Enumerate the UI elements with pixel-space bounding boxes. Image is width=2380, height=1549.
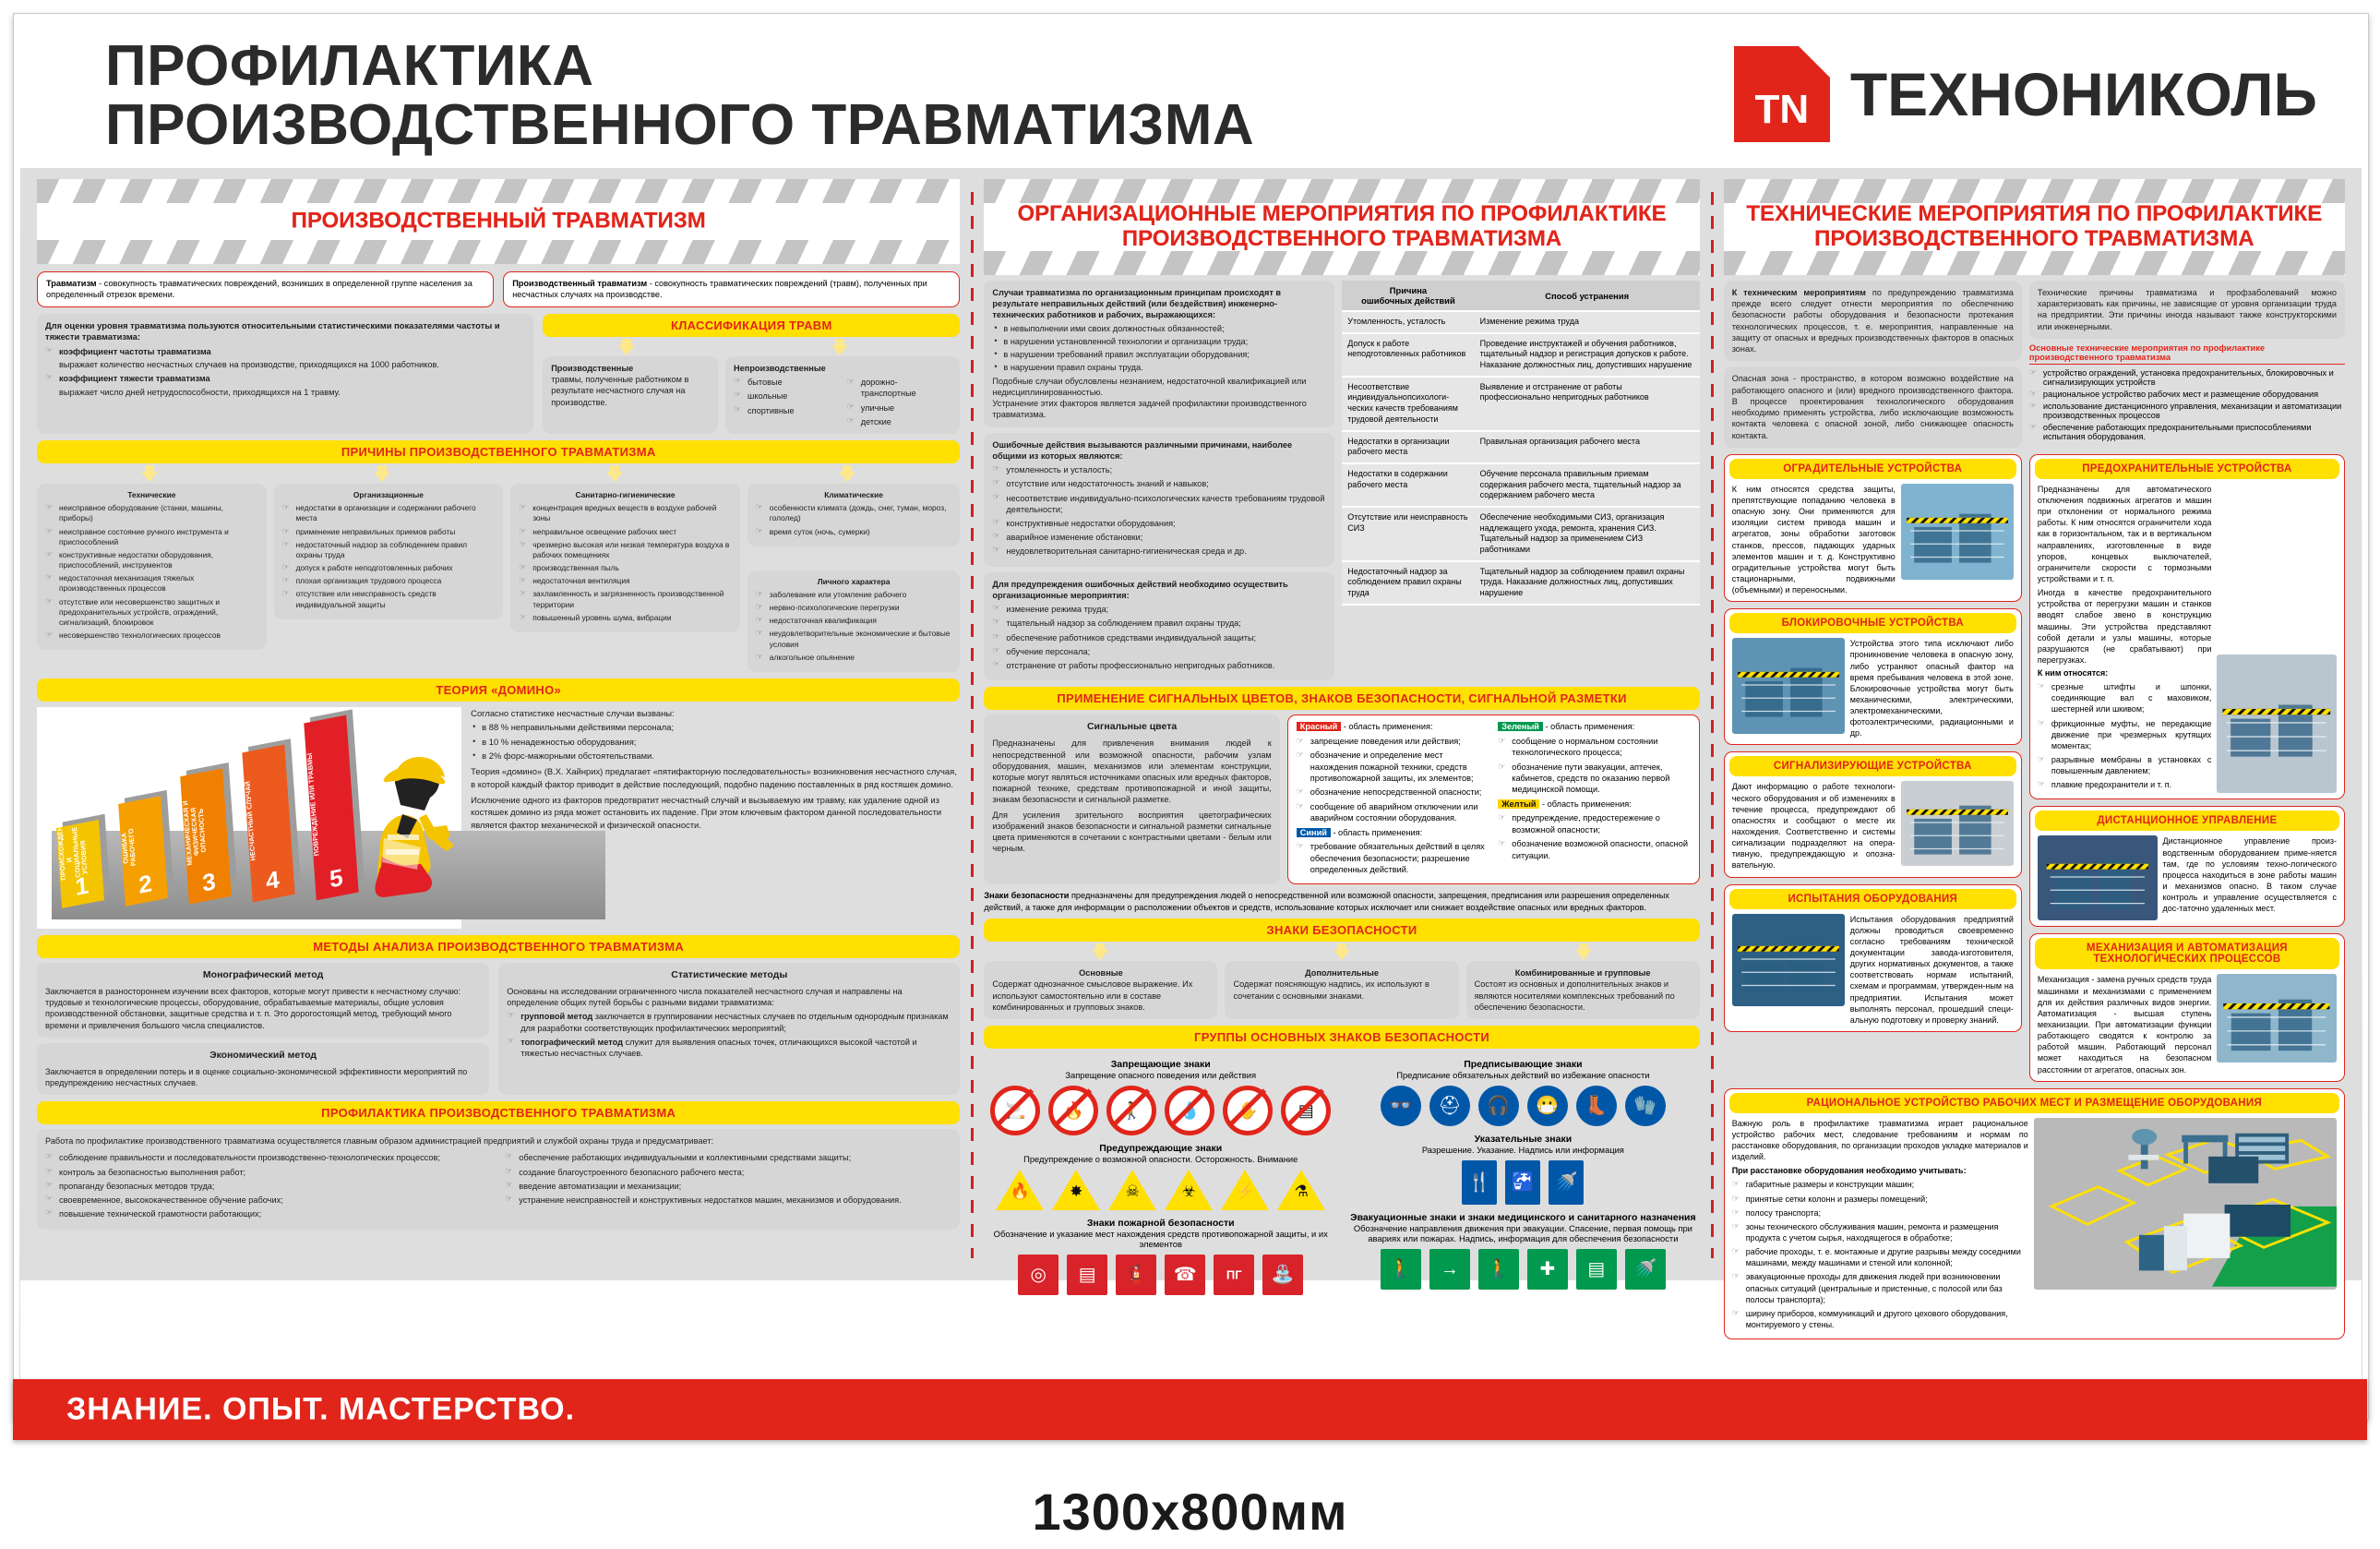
methods-title: МЕТОДЫ АНАЛИЗА ПРОИЗВОДСТВЕННОГО ТРАВМАТ… [37,935,960,958]
nonproduction-item: уличные [847,402,952,414]
prevention-item: обеспечение работающих индивидуальными и… [505,1152,951,1163]
cause-item: применение неправильных приемов работы [282,527,496,537]
table-cell: Выявление и отстранение от работы профес… [1475,377,1700,431]
workplace-item: габаритные размеры и конструкции машин; [1732,1179,2028,1190]
stat-indicators-title: Для оценки уровня травматизма пользуются… [45,320,525,343]
card-illustration [1901,781,2014,866]
table-cell: Недостатки в содержании рабочего места [1342,463,1474,507]
warning-sign-icon: ☠ [1108,1170,1156,1210]
info-sign-icon: 🚰 [1505,1160,1540,1205]
card-text: Основаны на исследовании ограниченного ч… [507,986,951,1008]
technical-card: ДИСТАНЦИОННОЕ УПРАВЛЕНИЕДистанционное уп… [2029,806,2345,927]
signs-definition: Знаки безопасности предназначены для пре… [984,890,1699,913]
color-suffix: - область применения: [1539,799,1631,809]
sign-group-subtitle: Обозначение и указание мест нахождения с… [984,1229,1337,1251]
sign-glyph: 🍴 [1462,1173,1497,1192]
sign-row: 🚬🔥🚶💧✋▤ [984,1086,1337,1135]
table-cell: Обеспечение необходимыми СИЗ, организаци… [1475,507,1700,561]
causes-cards: Техническиенеисправное оборудование (ста… [37,484,960,672]
poster-board: ПРОФИЛАКТИКА ПРОИЗВОДСТВЕННОГО ТРАВМАТИЗ… [13,13,2369,1420]
poster-board-inner: ПРОФИЛАКТИКА ПРОИЗВОДСТВЕННОГО ТРАВМАТИЗ… [20,20,2362,1412]
workplace-title: РАЦИОНАЛЬНОЕ УСТРОЙСТВО РАБОЧИХ МЕСТ И Р… [1729,1093,2339,1113]
sign-glyph: 😷 [1527,1097,1568,1115]
workplace-layout-illustration [2034,1118,2337,1290]
prevention-item: соблюдение правильности и последовательн… [45,1152,492,1163]
measure-item: изменение режима труда; [992,604,1326,615]
sign-glyph: ✋ [1227,1102,1268,1119]
warning-sign-icon: ✸ [1052,1170,1100,1210]
card-text: К ним относятся средства защиты, препятс… [1732,484,1896,595]
col2-top-row: Случаи травматизма по организационным пр… [984,281,1699,680]
intro-list: в невыполнении ими своих должностных обя… [992,323,1326,374]
domino-tile-3: МЕХАНИЧЕСКАЯ И ФИЗИЧЕСКАЯ ОПАСНОСТЬ3 [180,768,232,904]
stat-item: коэффициент частоты травматизмавыражает … [45,346,525,370]
intro-item: в нарушении установленной технологии и о… [992,336,1326,347]
poster-root: ПРОФИЛАКТИКА ПРОИЗВОДСТВЕННОГО ТРАВМАТИЗ… [0,0,2380,1549]
domino-tile-2: ОШИБКА РАБОЧЕГО2 [118,796,168,907]
domino-stats-list: в 88 % неправильными действиями персонал… [471,721,960,762]
sign-row: ◎▤🧯☎ПГ⛲ [984,1255,1337,1295]
measures-box: Для предупреждения ошибочных действий не… [984,572,1334,681]
domino-stat-item: в 2% форс-мажорными обстоятельствами. [471,750,960,762]
warning-sign-icon: ⚡ [1221,1170,1269,1210]
cause-card-4: Климатическиеособенности климата (дождь,… [747,484,961,546]
sign-glyph: ▤ [1576,1260,1617,1279]
sign-glyph: → [1429,1260,1470,1279]
card-illustration [2217,654,2337,793]
intro-item: в нарушении правил охраны труда. [992,362,1326,373]
color-usage-item: сообщение о нормальном состоянии техноло… [1498,736,1690,759]
info-sign-icon: 🚿 [1549,1160,1584,1205]
cause-item: алкогольное опьянение [756,653,952,663]
card-text: Дают информацию о работе технологи-ческо… [1732,781,1896,871]
color-usage-item: требование обязательных действий в целях… [1297,841,1489,875]
workplace-item: принятые сетки колонн и размеры помещени… [1732,1194,2028,1205]
cause-card-3: Санитарно-гигиеническиеконцентрация вред… [510,484,740,632]
card-body: Дистанционное управление произ-водственн… [2030,835,2344,920]
cause-item: чрезмерно высокая или низкая температура… [519,540,732,560]
mand-sign-icon: 👢 [1576,1086,1617,1126]
cause-item: недостаточная вентиляция [519,576,732,586]
table-cell: Недостаточный надзор за соблюдением прав… [1342,561,1474,605]
card-title: Экономический метод [45,1050,481,1063]
sign-types-row: ОсновныеСодержат однозначное смысловое в… [984,961,1699,1019]
card-title: ДИСТАНЦИОННОЕ УПРАВЛЕНИЕ [2035,811,2339,831]
cause-item: допуск к работе неподготовленных рабочих [282,563,496,573]
errors-list: утомленность и усталость;отсутствие или … [992,464,1326,558]
mand-sign-icon: 🎧 [1478,1086,1519,1126]
column-production-injuries: ПРОИЗВОДСТВЕННЫЙ ТРАВМАТИЗМ Травматизм -… [37,179,965,1271]
table-header: Способ устранения [1475,281,1700,311]
sign-type-card: ДополнительныеСодержат поясняющую надпис… [1225,961,1458,1019]
domino-tile-1: ПРОИСХОЖДЕНИЕ И СОЦИАЛЬНЫЕ УСЛОВИЯ1 [56,820,104,908]
mand-sign-icon: 😷 [1527,1086,1568,1126]
technical-card: СИГНАЛИЗИРУЮЩИЕ УСТРОЙСТВАДают информаци… [1724,751,2022,877]
technical-card: ПРЕДОХРАНИТЕЛЬНЫЕ УСТРОЙСТВАПредназначен… [2029,454,2345,800]
fire-sign-icon: ПГ [1214,1255,1254,1295]
table-row: Несоответствие индивидуальнопсихологи-че… [1342,377,1699,431]
column-divider-1 [965,179,978,1271]
poster-dimensions: 1300х800мм [0,1482,2380,1542]
technical-cards-grid: ОГРАДИТЕЛЬНЫЕ УСТРОЙСТВАК ним относятся … [1724,454,2345,1082]
sign-row: 🍴🚰🚿 [1346,1160,1700,1205]
sign-glyph: ◎ [1018,1266,1058,1284]
table-cell: Несоответствие индивидуальнопсихологи-че… [1342,377,1474,431]
measures-list: изменение режима труда;тщательный надзор… [992,604,1326,671]
workplace-text: Важную роль в профилактике травматизма и… [1732,1118,2028,1163]
method-statistical: Статистические методы Основаны на исслед… [498,963,960,1095]
color-usage-item: обозначение пути эвакуации, аптечек, каб… [1498,762,1690,796]
color-usage-item: предупреждение, предостережение о возмож… [1498,812,1690,835]
sign-glyph: ⛑ [1429,1097,1470,1115]
color-group-Синий: Синий - область применения:требование об… [1297,827,1489,876]
workplace-list-lead: При расстановке оборудования необходимо … [1732,1165,2028,1176]
col2-title: ОРГАНИЗАЦИОННЫЕ МЕРОПРИЯТИЯ ПО ПРОФИЛАКТ… [984,202,1699,252]
technical-causes-text: Технические причины травматизма и профза… [2038,288,2337,331]
color-suffix: - область применения: [1331,828,1422,837]
card-list-item: фрикционные муфты, не передающие движени… [2038,718,2211,751]
column-divider-2 [1705,179,1718,1271]
brand-logo: TN ТЕХНОНИКОЛЬ [1734,46,2317,142]
error-item: неудовлетворительная санитарно-гигиениче… [992,546,1326,557]
cause-item: недостаточный надзор за соблюдением прав… [282,540,496,560]
evac-sign-icon: 🚶 [1381,1249,1421,1290]
brand-name: ТЕХНОНИКОЛЬ [1850,59,2317,129]
color-usage-item: обозначение и определение мест нахождени… [1297,750,1489,784]
footer-slogan-bar: ЗНАНИЕ. ОПЫТ. МАСТЕРСТВО. [13,1379,2367,1440]
sign-glyph: ⛲ [1262,1266,1303,1284]
domino-illustration: ПРОИСХОЖДЕНИЕ И СОЦИАЛЬНЫЕ УСЛОВИЯ1ОШИБК… [37,707,461,929]
measure-item: отстранение от работы профессионально не… [992,660,1326,671]
evac-sign-icon: → [1429,1249,1470,1290]
fire-sign-icon: ▤ [1067,1255,1107,1295]
color-suffix: - область применения: [1341,722,1432,731]
sign-glyph: ✚ [1527,1260,1568,1279]
intro-item: в нарушении требований правил эксплуатац… [992,349,1326,360]
causes-remedies-table-wrap: Причинаошибочных действийСпособ устранен… [1342,281,1699,680]
definitions-row: Травматизм - совокупность травматических… [37,271,960,307]
sign-group-title: Указательные знаки [1346,1134,1700,1145]
intro-tail-2: Устранение этих факторов является задаче… [992,398,1326,420]
sign-group-mand: Предписывающие знакиПредписание обязател… [1346,1059,1700,1126]
color-tag: Зеленый [1498,722,1543,731]
col3-intro-row: К техническим мероприятиям по предупрежд… [1724,281,2345,448]
color-group-Желтый: Желтый - область применения:предупрежден… [1498,799,1690,861]
fire-sign-icon: ☎ [1165,1255,1205,1295]
sign-group-evac: Эвакуационные знаки и знаки медицинского… [1346,1212,1700,1291]
sign-type-card: ОсновныеСодержат однозначное смысловое в… [984,961,1217,1019]
evac-sign-icon: ✚ [1527,1249,1568,1290]
classification-nonproduction: Непроизводственные бытовыешкольныеспорти… [725,356,960,434]
cause-item: производственная пыль [519,563,732,573]
sign-type-card: Комбинированные и групповыеСостоят из ос… [1466,961,1700,1019]
workplace-item: ширину приборов, коммуникаций и другого … [1732,1308,2028,1330]
sign-glyph: 🎧 [1478,1097,1519,1115]
prohib-sign-icon: 🚶 [1106,1086,1156,1135]
sign-groups-wrap: Запрещающие знакиЗапрещение опасного пов… [984,1052,1699,1303]
prevention-item: создание благоустроенного безопасного ра… [505,1167,951,1178]
evac-sign-icon: 🚿 [1625,1249,1666,1290]
mand-sign-icon: 🧤 [1625,1086,1666,1126]
technical-intro-box: К техническим мероприятиям по предупрежд… [1724,281,2022,361]
technical-causes-box: Технические причины травматизма и профза… [2029,281,2345,339]
method-economic: Экономический метод Заключается в опреде… [37,1043,489,1095]
cause-item: концентрация вредных веществ в воздухе р… [519,503,732,523]
technonicol-logo-icon: TN [1734,46,1830,142]
cause-card-5: Личного характеразаболевание или утомлен… [747,570,961,672]
prevention-list-right: обеспечение работающих индивидуальными и… [505,1152,951,1222]
definition-text: - совокупность травматических повреждени… [46,279,472,299]
classification-cards: Производственные травмы, полученные рабо… [543,356,960,434]
sign-glyph: 🚶 [1111,1102,1152,1119]
cause-card-2: Организационныенедостатки в организации … [274,484,504,619]
evac-sign-icon: 🚶 [1478,1249,1519,1290]
color-tag: Желтый [1498,799,1539,809]
color-groups-box: Красный - область применения:запрещение … [1287,714,1700,884]
errors-box: Ошибочные действия вызываются различными… [984,433,1334,567]
sign-group-subtitle: Предупреждение о возможной опасности. Ос… [984,1154,1337,1165]
prevention-title: ПРОФИЛАКТИКА ПРОИЗВОДСТВЕННОГО ТРАВМАТИЗ… [37,1101,960,1124]
causes-remedies-table: Причинаошибочных действийСпособ устранен… [1342,281,1699,606]
sign-glyph: ☎ [1165,1266,1205,1284]
card-body: Механизация - замена ручных средств труд… [2030,974,2344,1075]
sign-glyph: 🔥 [1053,1102,1094,1119]
technical-measure-item: обеспечение работающих предохранительным… [2029,423,2345,441]
mand-sign-icon: ⛑ [1429,1086,1470,1126]
prohib-sign-icon: ✋ [1223,1086,1273,1135]
definition-occupational: Производственный травматизм - совокупнос… [503,271,960,307]
table-row: Недостаточный надзор за соблюдением прав… [1342,561,1699,605]
sign-group-fire: Знаки пожарной безопасностиОбозначение и… [984,1218,1337,1296]
card-body: Устройства этого типа исключают либо про… [1725,638,2021,738]
cause-item: недостаточная квалификация [756,616,952,626]
card-text: травмы, полученные работником в результа… [551,374,710,408]
card-illustration [1901,484,2014,580]
stat-item: коэффициент тяжести травматизмавыражает … [45,373,525,397]
card-title: СИГНАЛИЗИРУЮЩИЕ УСТРОЙСТВА [1729,756,2016,776]
col3-title: ТЕХНИЧЕСКИЕ МЕРОПРИЯТИЯ ПО ПРОФИЛАКТИКЕ … [1724,202,2345,252]
cause-item: несовершенство технологических процессов [45,630,258,641]
sign-group-title: Предупреждающие знаки [984,1143,1337,1154]
card-list-item: срезные штифты и шпонки, соединяющие вал… [2038,681,2211,714]
sign-glyph: 🚶 [1478,1260,1519,1279]
signs-definition-term: Знаки безопасности [984,891,1069,900]
footer-slogan: ЗНАНИЕ. ОПЫТ. МАСТЕРСТВО. [66,1392,575,1428]
error-item: аварийное изменение обстановки; [992,532,1326,543]
prevention-box: Работа по профилактике производственного… [37,1129,960,1229]
page-title: ПРОФИЛАКТИКА ПРОИЗВОДСТВЕННОГО ТРАВМАТИЗ… [105,37,1254,155]
cause-item: неисправное состояние ручного инструмент… [45,527,258,547]
cause-item: неудовлетворительные экономические и быт… [756,629,952,649]
sign-glyph: 🧯 [1116,1266,1156,1284]
technical-cards-columns: ОГРАДИТЕЛЬНЫЕ УСТРОЙСТВАК ним относятся … [1724,454,2345,1082]
color-usage-item: запрещение поведения или действия; [1297,736,1489,747]
cause-item: захламленность и загрязненность производ… [519,589,732,609]
table-cell: Изменение режима труда [1475,311,1700,333]
technical-measure-item: использование дистанционного управления,… [2029,402,2345,420]
cause-item: отсутствие или неисправность средств инд… [282,589,496,609]
methods-row: Монографический метод Заключается в разн… [37,963,960,1095]
cause-item: неправильное освещение рабочих мест [519,527,732,537]
card-illustration [1732,638,1845,734]
sign-glyph: 🚬 [995,1102,1035,1119]
logo-mark-text: TN [1734,87,1830,133]
danger-zone-text: Опасная зона - пространство, в котором в… [1732,374,2014,439]
sign-glyph: 🚶 [1381,1260,1421,1279]
causes-arrows [37,465,960,482]
table-cell: Проведение инструктажей и обучения работ… [1475,333,1700,377]
color-usage-item: обозначение возможной опасности, опасной… [1498,838,1690,861]
cause-item: недостаточная механизация тяжелых произв… [45,573,258,594]
table-cell: Правильная организация рабочего места [1475,431,1700,463]
domino-paragraph-2: Исключение одного из факторов предотврат… [471,794,960,831]
stat-indicators-list: коэффициент частоты травматизмавыражает … [45,346,525,398]
sign-glyph: 👢 [1576,1097,1617,1115]
technical-card: БЛОКИРОВОЧНЫЕ УСТРОЙСТВАУстройства этого… [1724,608,2022,745]
sign-group-subtitle: Запрещение опасного поведения или действ… [984,1070,1337,1081]
prohib-sign-icon: 💧 [1165,1086,1214,1135]
classification-title: КЛАССИФИКАЦИЯ ТРАВМ [543,314,960,337]
card-illustration [2038,835,2158,920]
col1-title: ПРОИЗВОДСТВЕННЫЙ ТРАВМАТИЗМ [37,210,960,234]
workplace-list: габаритные размеры и конструкции машин;п… [1732,1179,2028,1330]
card-body: Предназначены для автоматического отключ… [2030,484,2344,794]
definition-term: Травматизм [46,279,97,288]
table-cell: Утомленность, усталость [1342,311,1474,333]
nonproduction-item: дорожно-транспортные [847,377,952,399]
intro-text: по предупреждению травматизма прежде все… [1732,288,2014,354]
color-usage-item: обозначение непосредственной опасности; [1297,787,1489,798]
technical-measure-item: рациональное устройство рабочих мест и р… [2029,390,2345,399]
technical-card: ОГРАДИТЕЛЬНЫЕ УСТРОЙСТВАК ним относятся … [1724,454,2022,602]
card-text: Испытания оборудования предприятий должн… [1850,914,2014,1026]
sign-group-title: Запрещающие знаки [984,1059,1337,1070]
table-row: Отсутствие или неисправность СИЗОбеспече… [1342,507,1699,561]
nonproduction-item: школьные [734,390,839,402]
card-text: Предназначены для автоматического отключ… [2038,484,2211,794]
sign-row: 🚶→🚶✚▤🚿 [1346,1249,1700,1290]
sign-groups-title: ГРУППЫ ОСНОВНЫХ ЗНАКОВ БЕЗОПАСНОСТИ [984,1026,1699,1049]
workplace-item: зоны технического обслуживания машин, ре… [1732,1221,2028,1243]
intro-term: К техническим мероприятиям [1732,288,1866,297]
col3-band: ТЕХНИЧЕСКИЕ МЕРОПРИЯТИЯ ПО ПРОФИЛАКТИКЕ … [1724,179,2345,275]
sign-row: 🔥✸☠☣⚡⚗ [984,1170,1337,1210]
cause-item: отсутствие или несовершенство защитных и… [45,597,258,629]
technical-card: ИСПЫТАНИЯ ОБОРУДОВАНИЯИспытания оборудов… [1724,884,2022,1032]
statistical-method-item: топографический метод служит для выявлен… [507,1037,951,1059]
card-title: БЛОКИРОВОЧНЫЕ УСТРОЙСТВА [1729,613,2016,633]
card-text: Дистанционное управление произ-водственн… [2163,835,2337,920]
color-tag: Красный [1297,722,1341,731]
table-row: Недостатки в организации рабочего местаП… [1342,431,1699,463]
fire-sign-icon: ⛲ [1262,1255,1303,1295]
stat-indicators-box: Для оценки уровня травматизма пользуются… [37,314,533,434]
technical-cards-right: ПРЕДОХРАНИТЕЛЬНЫЕ УСТРОЙСТВАПредназначен… [2029,454,2345,1082]
table-cell: Обучение персонала правильным приемам со… [1475,463,1700,507]
sign-group-subtitle: Обозначение направления движения при эва… [1346,1223,1700,1245]
table-cell: Тщательный надзор за соблюдением правил … [1475,561,1700,605]
card-title: ПРЕДОХРАНИТЕЛЬНЫЕ УСТРОЙСТВА [2035,459,2339,479]
workplace-item: рабочие проходы, т. е. монтажные и други… [1732,1246,2028,1268]
card-text: Заключается в определении потерь и в оце… [45,1066,481,1088]
sign-groups-left: Запрещающие знакиЗапрещение опасного пов… [984,1052,1337,1303]
cause-item: время суток (ночь, сумерки) [756,527,952,537]
measures-lead: Для предупреждения ошибочных действий не… [992,579,1326,601]
poster-content: ПРОИЗВОДСТВЕННЫЙ ТРАВМАТИЗМ Травматизм -… [20,168,2362,1280]
table-header: Причинаошибочных действий [1342,281,1474,311]
table-cell: Недостатки в организации рабочего места [1342,431,1474,463]
error-item: отсутствие или недостаточность знаний и … [992,478,1326,489]
sign-group-title: Эвакуационные знаки и знаки медицинского… [1346,1212,1700,1223]
main-measures-title: Основные технические мероприятия по проф… [2029,343,2345,365]
intro-item: в невыполнении ими своих должностных обя… [992,323,1326,334]
technical-cards-left: ОГРАДИТЕЛЬНЫЕ УСТРОЙСТВАК ним относятся … [1724,454,2022,1032]
sign-group-warn: Предупреждающие знакиПредупреждение о во… [984,1143,1337,1210]
sign-glyph: 💧 [1169,1102,1210,1119]
intro-lead: Случаи травматизма по организационным пр… [992,287,1326,321]
table-row: Утомленность, усталостьИзменение режима … [1342,311,1699,333]
card-title: Монографический метод [45,969,481,982]
definition-traumatism: Травматизм - совокупность травматических… [37,271,494,307]
sign-glyph: 🚿 [1625,1260,1666,1279]
measure-item: обеспечение работников средствами индиви… [992,632,1326,643]
sign-group-info: Указательные знакиРазрешение. Указание. … [1346,1134,1700,1205]
cause-item: плохая организация трудового процесса [282,576,496,586]
sign-glyph: ▤ [1067,1266,1107,1284]
warning-sign-icon: ☣ [1165,1170,1213,1210]
signal-colors-row: Сигнальные цвета Предназначены для привл… [984,714,1699,884]
worker-illustration [341,746,480,901]
signs-title: ЗНАКИ БЕЗОПАСНОСТИ [984,919,1699,942]
main-measures-list: устройство ограждений, установка предохр… [2029,368,2345,441]
domino-tile-label: НЕСЧАСТНЫЙ СЛУЧАЙ [243,759,293,875]
card-text: Устройства этого типа исключают либо про… [1850,638,2014,738]
workplace-card: РАЦИОНАЛЬНОЕ УСТРОЙСТВО РАБОЧИХ МЕСТ И Р… [1724,1088,2345,1339]
causes-title: ПРИЧИНЫ ПРОИЗВОДСТВЕННОГО ТРАВМАТИЗМА [37,440,960,463]
evac-sign-icon: ▤ [1576,1249,1617,1290]
nonproduction-item: бытовые [734,377,839,388]
intro-box: Случаи травматизма по организационным пр… [984,281,1334,427]
method-monographic: Монографический метод Заключается в разн… [37,963,489,1038]
nonproduction-item: спортивные [734,405,839,416]
prevention-lead: Работа по профилактике производственного… [45,1135,951,1147]
prohib-sign-icon: 🔥 [1048,1086,1098,1135]
classification-arrows [543,339,960,355]
technical-card: МЕХАНИЗАЦИЯ И АВТОМАТИЗАЦИЯ ТЕХНОЛОГИЧЕС… [2029,933,2345,1081]
card-title: Производственные [551,363,710,374]
table-cell: Отсутствие или неисправность СИЗ [1342,507,1474,561]
table-row: Недостатки в содержании рабочего местаОб… [1342,463,1699,507]
cause-item: конструктивные недостатки оборудования, … [45,550,258,570]
color-usage-item: сообщение об аварийном отключении или ав… [1297,801,1489,824]
definition-term: Производственный травматизм [512,279,647,288]
prevention-list-left: соблюдение правильности и последовательн… [45,1152,492,1222]
cause-item: особенности климата (дождь, снег, туман,… [756,503,952,523]
sign-row: 👓⛑🎧😷👢🧤 [1346,1086,1700,1126]
card-list-item: разрывные мембраны в установках с повыше… [2038,754,2211,776]
col2-left: Случаи травматизма по организационным пр… [984,281,1334,680]
prevention-item: пропаганду безопасных методов труда; [45,1181,492,1192]
domino-paragraph-1: Теория «домино» (В.Х. Хайнрих) предлагае… [471,765,960,790]
classification-production: Производственные травмы, полученные рабо… [543,356,718,434]
fire-sign-icon: 🧯 [1116,1255,1156,1295]
errors-lead: Ошибочные действия вызываются различными… [992,439,1326,462]
measure-item: тщательный надзор за соблюдением правил … [992,618,1326,629]
card-title: Сигнальные цвета [992,721,1271,734]
measure-item: обучение персонала; [992,646,1326,657]
prevention-item: контроль за безопасностью выполнения раб… [45,1167,492,1178]
technical-measure-item: устройство ограждений, установка предохр… [2029,368,2345,387]
